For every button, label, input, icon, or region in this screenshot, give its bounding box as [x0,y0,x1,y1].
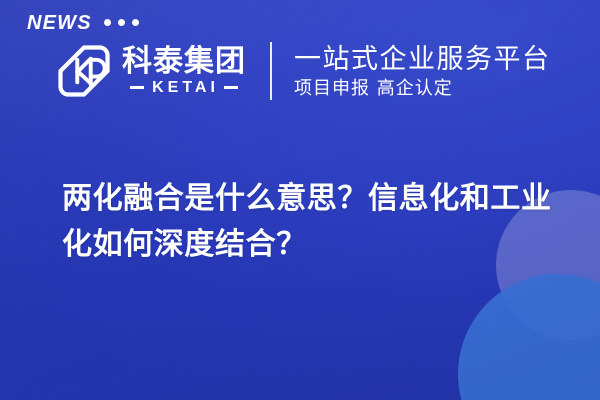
brand-name-en-row: KETAI [122,80,246,96]
news-eyebrow-label: NEWS [27,13,92,33]
slogan-block: 一站式企业服务平台 项目申报 高企认定 [294,43,551,99]
news-eyebrow: NEWS [27,13,139,33]
rule-right [224,86,238,89]
dot-icon [132,19,139,26]
brand-name-en: KETAI [149,80,219,96]
news-banner: NEWS [0,0,600,400]
brand-lockup: 科泰集团 KETAI 一站式企业服务平台 项目申报 高企认定 [56,42,551,100]
dot-icon [104,19,111,26]
brand-name-cn: 科泰集团 [122,46,246,78]
rule-left [130,86,144,89]
slogan-main: 一站式企业服务平台 [294,45,551,74]
dot-icon [118,19,125,26]
news-eyebrow-dots-icon [104,19,139,27]
article-headline: 两化融合是什么意思？信息化和工业化如何深度结合？ [62,176,562,267]
slogan-sub: 项目申报 高企认定 [294,79,551,99]
brand-wordmark: 科泰集团 KETAI [122,46,246,96]
brand-logo: 科泰集团 KETAI [56,43,246,99]
brand-divider [270,42,272,100]
ketai-diamond-monogram-logo-icon [56,43,112,99]
